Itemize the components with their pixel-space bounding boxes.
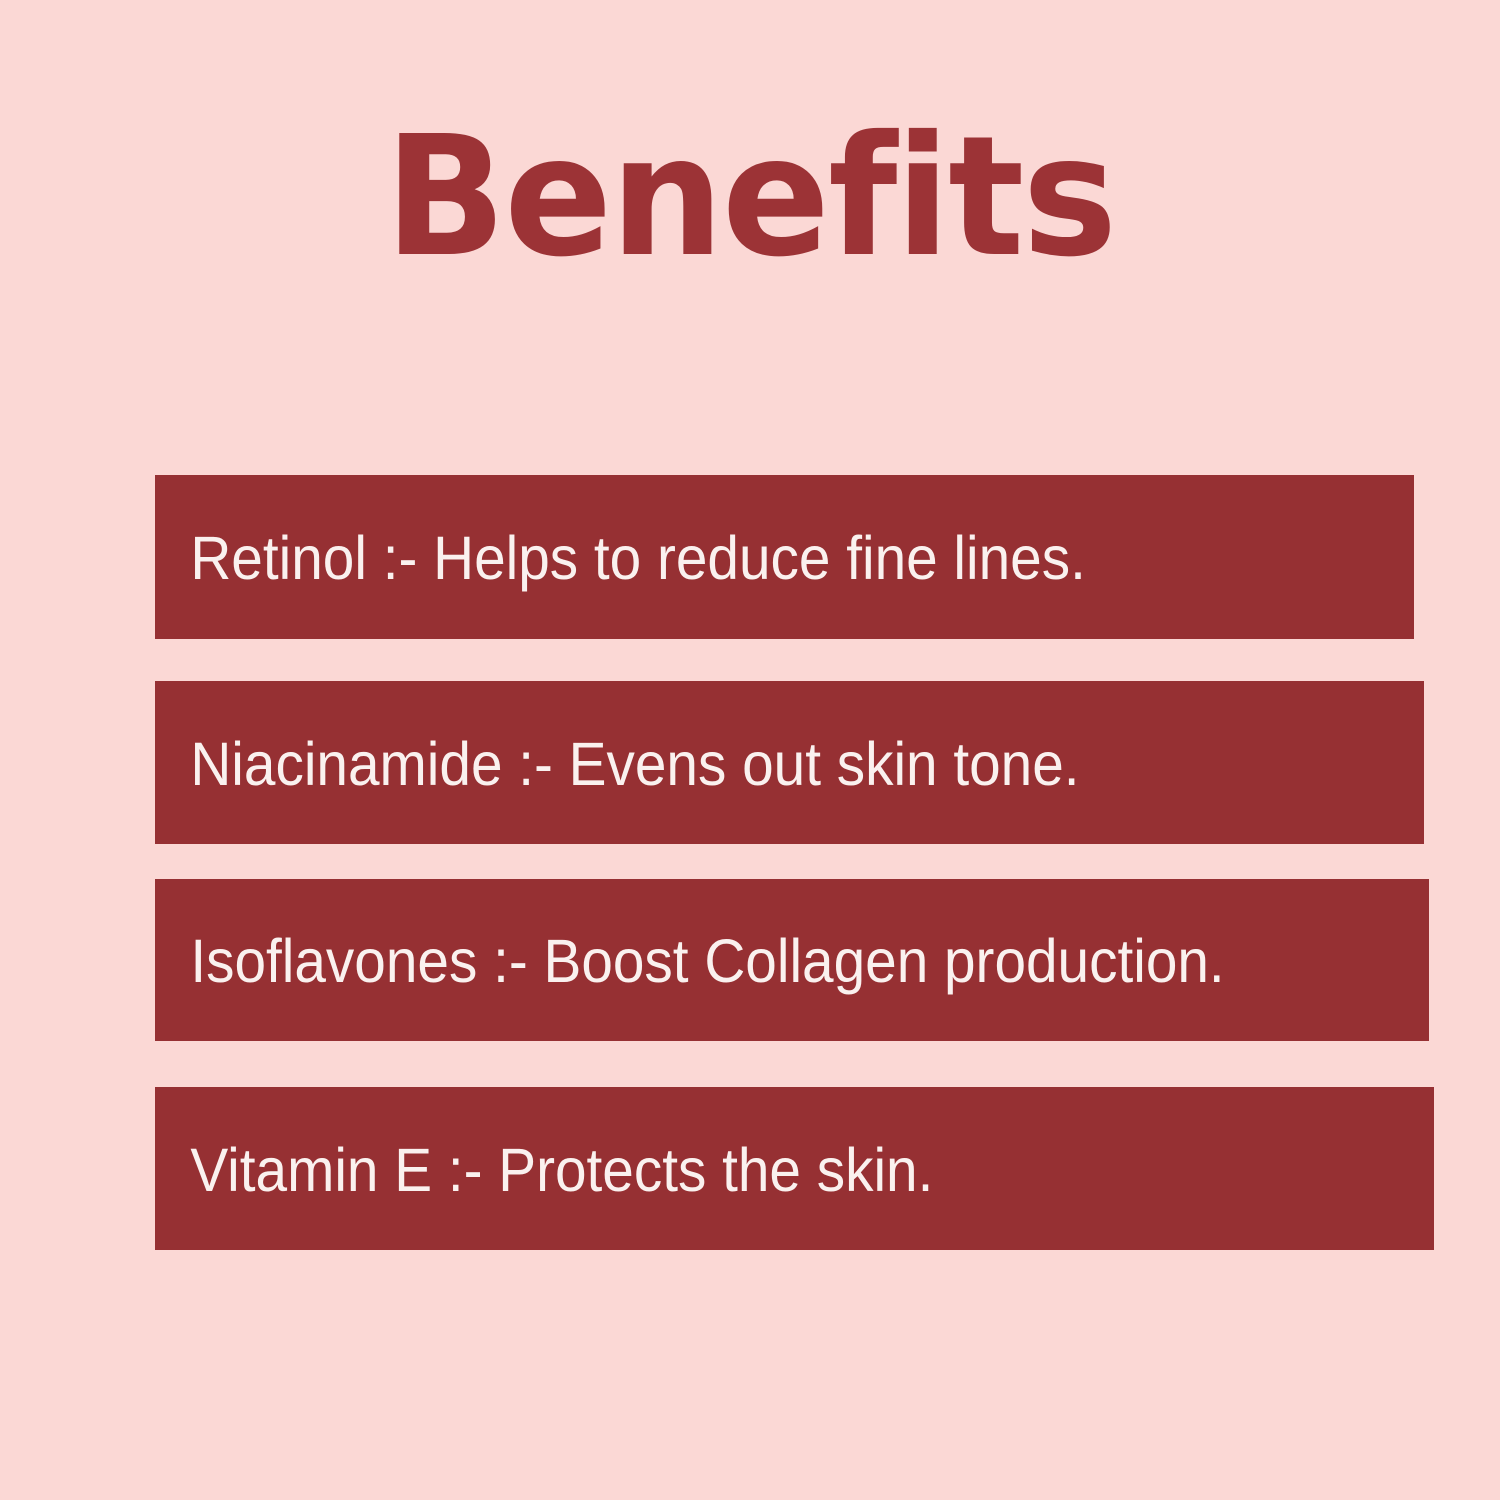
benefit-text: Niacinamide :- Evens out skin tone. bbox=[155, 732, 1080, 796]
benefit-row-isoflavones: Isoflavones :- Boost Collagen production… bbox=[155, 879, 1429, 1041]
benefit-row-vitamin-e: Vitamin E :- Protects the skin. bbox=[155, 1087, 1434, 1250]
benefit-text: Vitamin E :- Protects the skin. bbox=[155, 1138, 933, 1202]
page-title: Benefits bbox=[30, 108, 1470, 288]
benefits-slide: Benefits Retinol :- Helps to reduce fine… bbox=[0, 0, 1500, 1500]
benefit-text: Isoflavones :- Boost Collagen production… bbox=[155, 929, 1225, 993]
benefit-row-retinol: Retinol :- Helps to reduce fine lines. bbox=[155, 475, 1414, 639]
benefit-row-niacinamide: Niacinamide :- Evens out skin tone. bbox=[155, 681, 1424, 844]
benefit-text: Retinol :- Helps to reduce fine lines. bbox=[155, 526, 1086, 590]
